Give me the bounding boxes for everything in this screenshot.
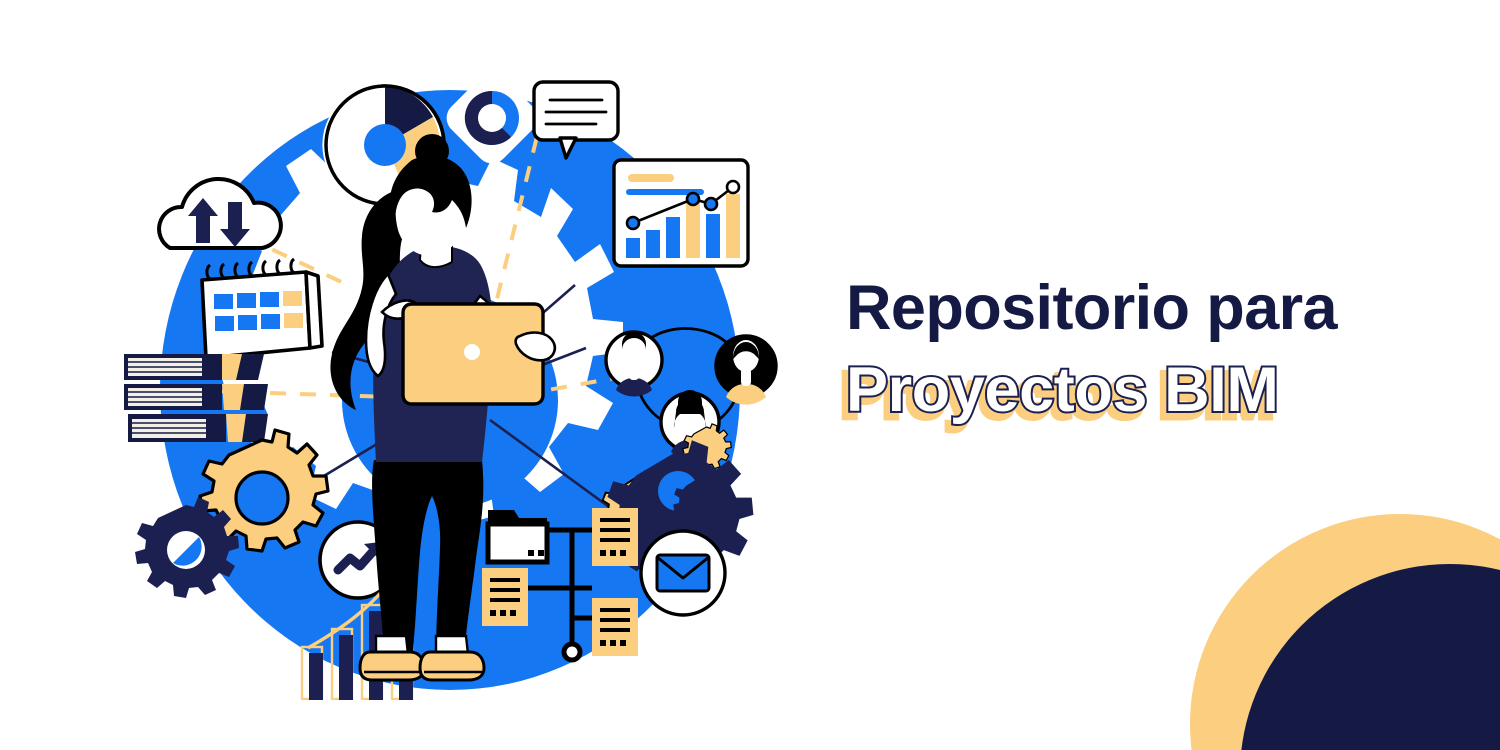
corner-decoration	[1170, 500, 1500, 750]
page-title-line1: Repositorio para	[846, 276, 1446, 342]
character-hair-bun	[415, 134, 449, 168]
banner-root: Repositorio para Proyectos BIM Proyectos…	[0, 0, 1500, 750]
file-node-3	[482, 568, 528, 626]
headline-block: Repositorio para Proyectos BIM Proyectos…	[846, 276, 1446, 450]
email-icon	[641, 531, 725, 615]
corner-circle-navy	[1240, 564, 1500, 750]
file-node-2	[592, 598, 638, 656]
hero-illustration	[120, 60, 820, 700]
corner-ring-yellow	[1190, 514, 1500, 750]
analytics-card-icon	[614, 160, 748, 266]
books-stack-icon	[124, 354, 268, 442]
calendar-icon	[202, 259, 322, 358]
navy-gear-icon	[135, 497, 239, 598]
page-title-line2: Proyectos BIM	[846, 358, 1278, 424]
page-title-line2-wrap: Proyectos BIM Proyectos BIM	[846, 358, 1446, 450]
file-node-1	[592, 508, 638, 566]
